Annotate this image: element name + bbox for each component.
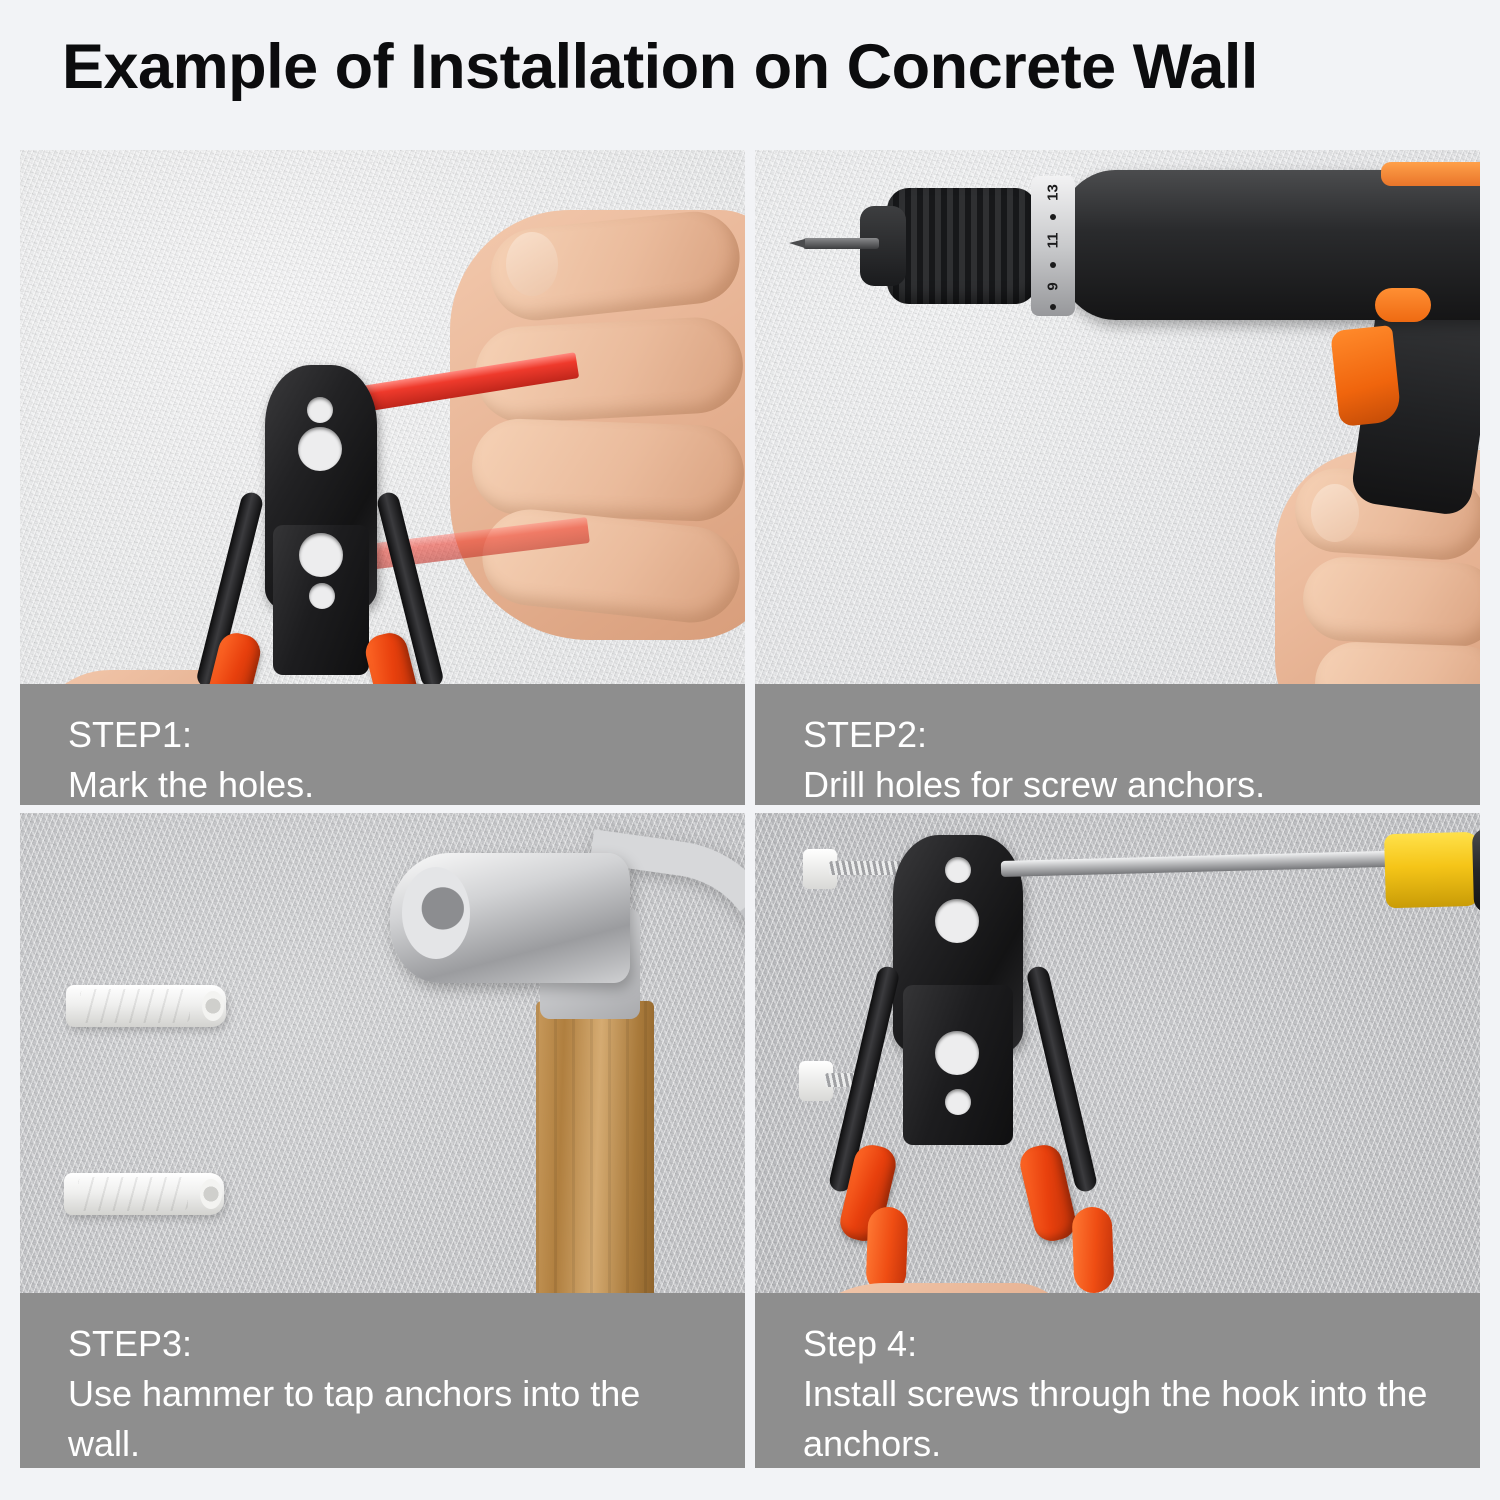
steps-grid: STEP1: Mark the holes. <box>20 150 1480 1468</box>
hook-hole-lower <box>299 533 343 577</box>
step-4-text: Install screws through the hook into the… <box>803 1369 1446 1468</box>
step-card-3: STEP3: Use hammer to tap anchors into th… <box>20 813 745 1468</box>
wall-hook <box>873 835 1093 1235</box>
clutch-dot <box>1050 304 1056 310</box>
step-2-label: STEP2: <box>803 710 1446 760</box>
wall-hook <box>225 365 465 705</box>
step-3-label: STEP3: <box>68 1319 711 1369</box>
hook-hole-upper <box>298 427 342 471</box>
step-4-label: Step 4: <box>803 1319 1446 1369</box>
hook-hole-upper <box>935 899 979 943</box>
screwdriver-ferrule <box>1384 832 1480 908</box>
wall-anchor-top <box>66 985 226 1027</box>
hook-hole-lower <box>935 1031 979 1075</box>
page-title: Example of Installation on Concrete Wall <box>62 33 1258 102</box>
step-4-caption: Step 4: Install screws through the hook … <box>755 1293 1480 1468</box>
drill-bit <box>803 238 879 249</box>
fingernail <box>506 232 558 296</box>
step-card-1: STEP1: Mark the holes. <box>20 150 745 805</box>
anchor-ribs <box>78 1177 188 1211</box>
drill-chuck <box>887 188 1037 304</box>
step-card-2: 13 11 9 STEP2: Drill holes for screw anc… <box>755 150 1480 805</box>
hook-tip-right-up <box>1072 1206 1115 1293</box>
hammer-striking-face <box>402 867 470 959</box>
hook-hole-bottom <box>945 1089 971 1115</box>
clutch-number-11: 11 <box>1045 233 1062 249</box>
clutch-dot <box>1050 262 1056 268</box>
clutch-number-13: 13 <box>1045 184 1062 201</box>
screwdriver-handle <box>1472 825 1480 913</box>
step-1-label: STEP1: <box>68 710 711 760</box>
step-1-text: Mark the holes. <box>68 760 711 805</box>
drill-clutch-ring: 13 11 9 <box>1031 176 1075 316</box>
hook-tip-left-up <box>866 1206 909 1293</box>
step-1-caption: STEP1: Mark the holes. <box>20 684 745 805</box>
finger-middle <box>1301 555 1480 649</box>
drill-trigger <box>1330 325 1402 427</box>
step-card-4: Step 4: Install screws through the hook … <box>755 813 1480 1468</box>
hook-hole-bottom <box>309 583 335 609</box>
anchor-ribs <box>80 989 190 1023</box>
step-2-text: Drill holes for screw anchors. <box>803 760 1446 805</box>
wall-anchor-bottom <box>64 1173 224 1215</box>
drill-direction-switch <box>1375 288 1431 322</box>
clutch-dot <box>1050 214 1056 220</box>
hook-hole-top <box>307 397 333 423</box>
step-3-text: Use hammer to tap anchors into the wall. <box>68 1369 711 1468</box>
drill-top-accent <box>1381 162 1480 186</box>
clutch-number-9: 9 <box>1045 282 1062 290</box>
step-3-caption: STEP3: Use hammer to tap anchors into th… <box>20 1293 745 1468</box>
hook-hole-top <box>945 857 971 883</box>
fingernail <box>1311 484 1359 542</box>
installation-guide-page: Example of Installation on Concrete Wall <box>0 0 1500 1500</box>
step-2-caption: STEP2: Drill holes for screw anchors. <box>755 684 1480 805</box>
finger-ring <box>470 417 745 522</box>
